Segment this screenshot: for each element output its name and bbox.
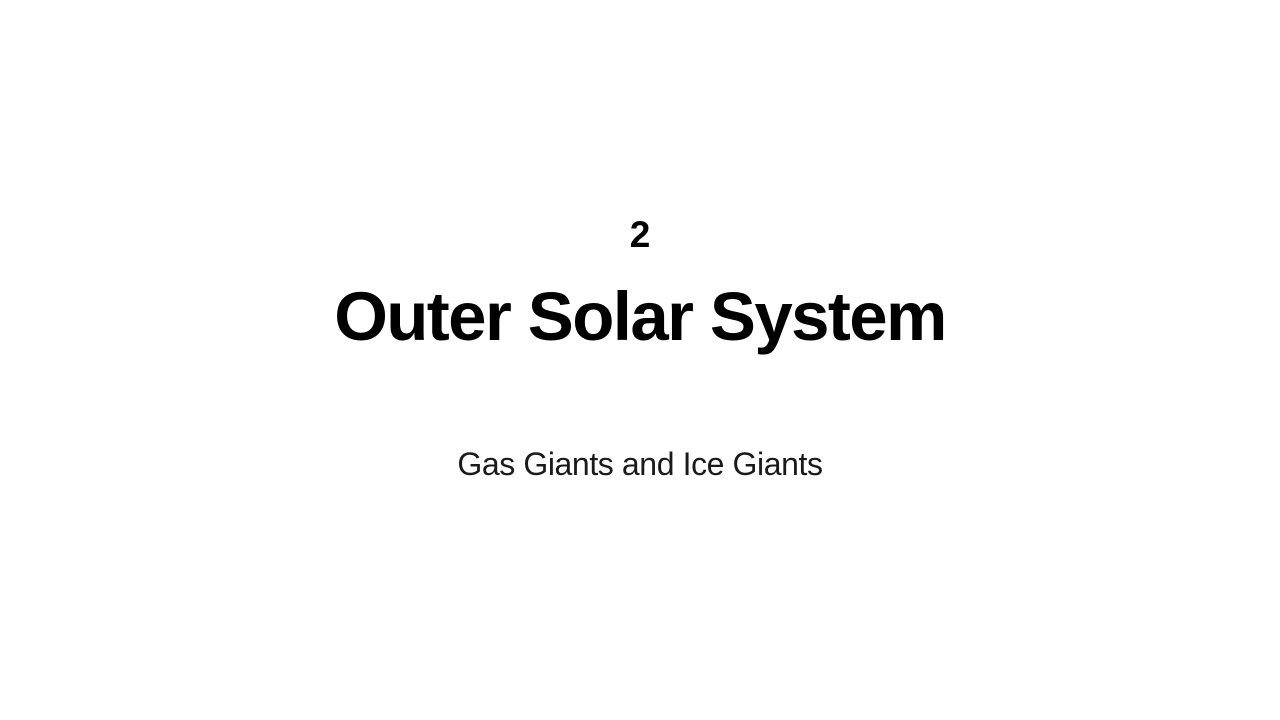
- slide-canvas: 2 Outer Solar System Gas Giants and Ice …: [0, 0, 1280, 720]
- page-title: Outer Solar System: [334, 279, 946, 355]
- section-number: 2: [630, 214, 651, 257]
- page-subtitle: Gas Giants and Ice Giants: [457, 445, 822, 483]
- slide-content: 2 Outer Solar System Gas Giants and Ice …: [0, 0, 1280, 720]
